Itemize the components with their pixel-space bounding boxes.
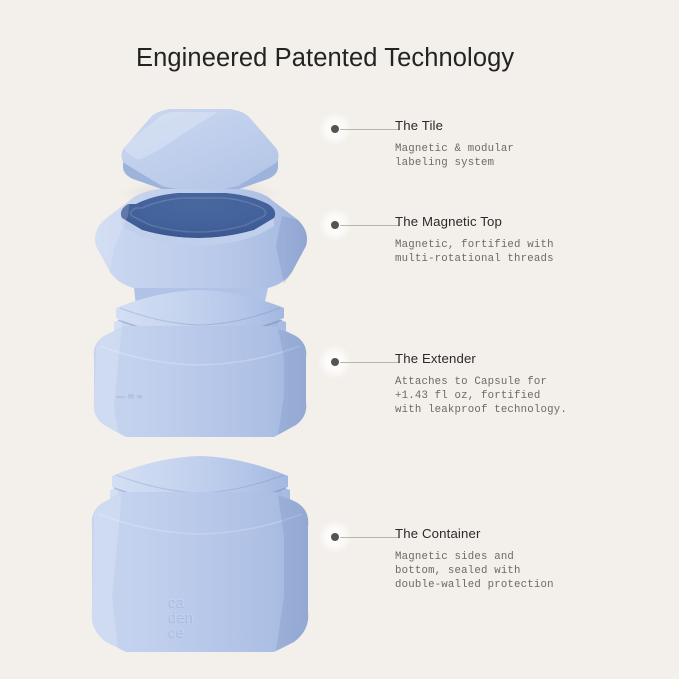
callout-body: Attaches to Capsule for +1.43 fl oz, for… — [395, 375, 567, 418]
svg-text:ce: ce — [169, 625, 185, 641]
svg-text:ca: ca — [169, 595, 186, 611]
callout-dot-icon — [331, 221, 339, 229]
callout-heading: The Tile — [395, 118, 443, 133]
leader-line — [340, 537, 400, 538]
callout-dot-icon — [331, 358, 339, 366]
callout-dot-icon — [331, 125, 339, 133]
leader-line — [340, 362, 400, 363]
leader-line — [340, 225, 400, 226]
callout-heading: The Magnetic Top — [395, 214, 502, 229]
callout-heading: The Container — [395, 526, 481, 541]
callout-heading: The Extender — [395, 351, 476, 366]
svg-text:den: den — [169, 610, 194, 626]
infographic-canvas: Engineered Patented Technology — [0, 0, 679, 679]
page-title: Engineered Patented Technology — [136, 44, 514, 73]
leader-line — [340, 129, 400, 130]
callout-body: Magnetic sides and bottom, sealed with d… — [395, 550, 554, 593]
product-illustration: ca den ce ca den ce — [78, 96, 328, 666]
callout-body: Magnetic, fortified with multi-rotationa… — [395, 238, 554, 266]
product-part-container: ca den ce ca den ce — [92, 456, 309, 652]
product-part-extender — [94, 290, 307, 437]
callout-body: Magnetic & modular labeling system — [395, 142, 514, 170]
callout-dot-icon — [331, 533, 339, 541]
